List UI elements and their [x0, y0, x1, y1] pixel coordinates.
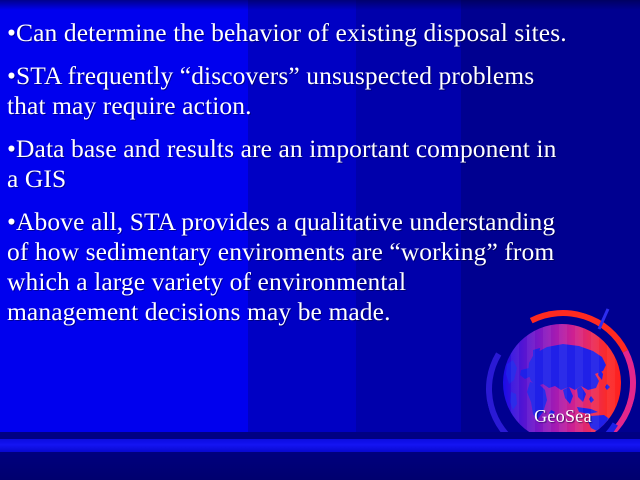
accent-bar-dark-lower [0, 452, 640, 480]
accent-bar-dark-upper [0, 432, 640, 439]
slide-bottom-accent [0, 432, 640, 480]
slide-background-top-fade [0, 0, 640, 10]
bullet-item-1: •Can determine the behavior of existing … [7, 18, 631, 48]
slide-body-text: •Can determine the behavior of existing … [7, 18, 631, 327]
presentation-slide: •Can determine the behavior of existing … [0, 0, 640, 480]
geosea-logo-label: GeoSea [486, 406, 640, 427]
bullet-item-3: •Data base and results are an important … [7, 134, 631, 194]
bullet-item-2: •STA frequently “discovers” unsuspected … [7, 61, 631, 121]
accent-bar-bright [0, 439, 640, 452]
